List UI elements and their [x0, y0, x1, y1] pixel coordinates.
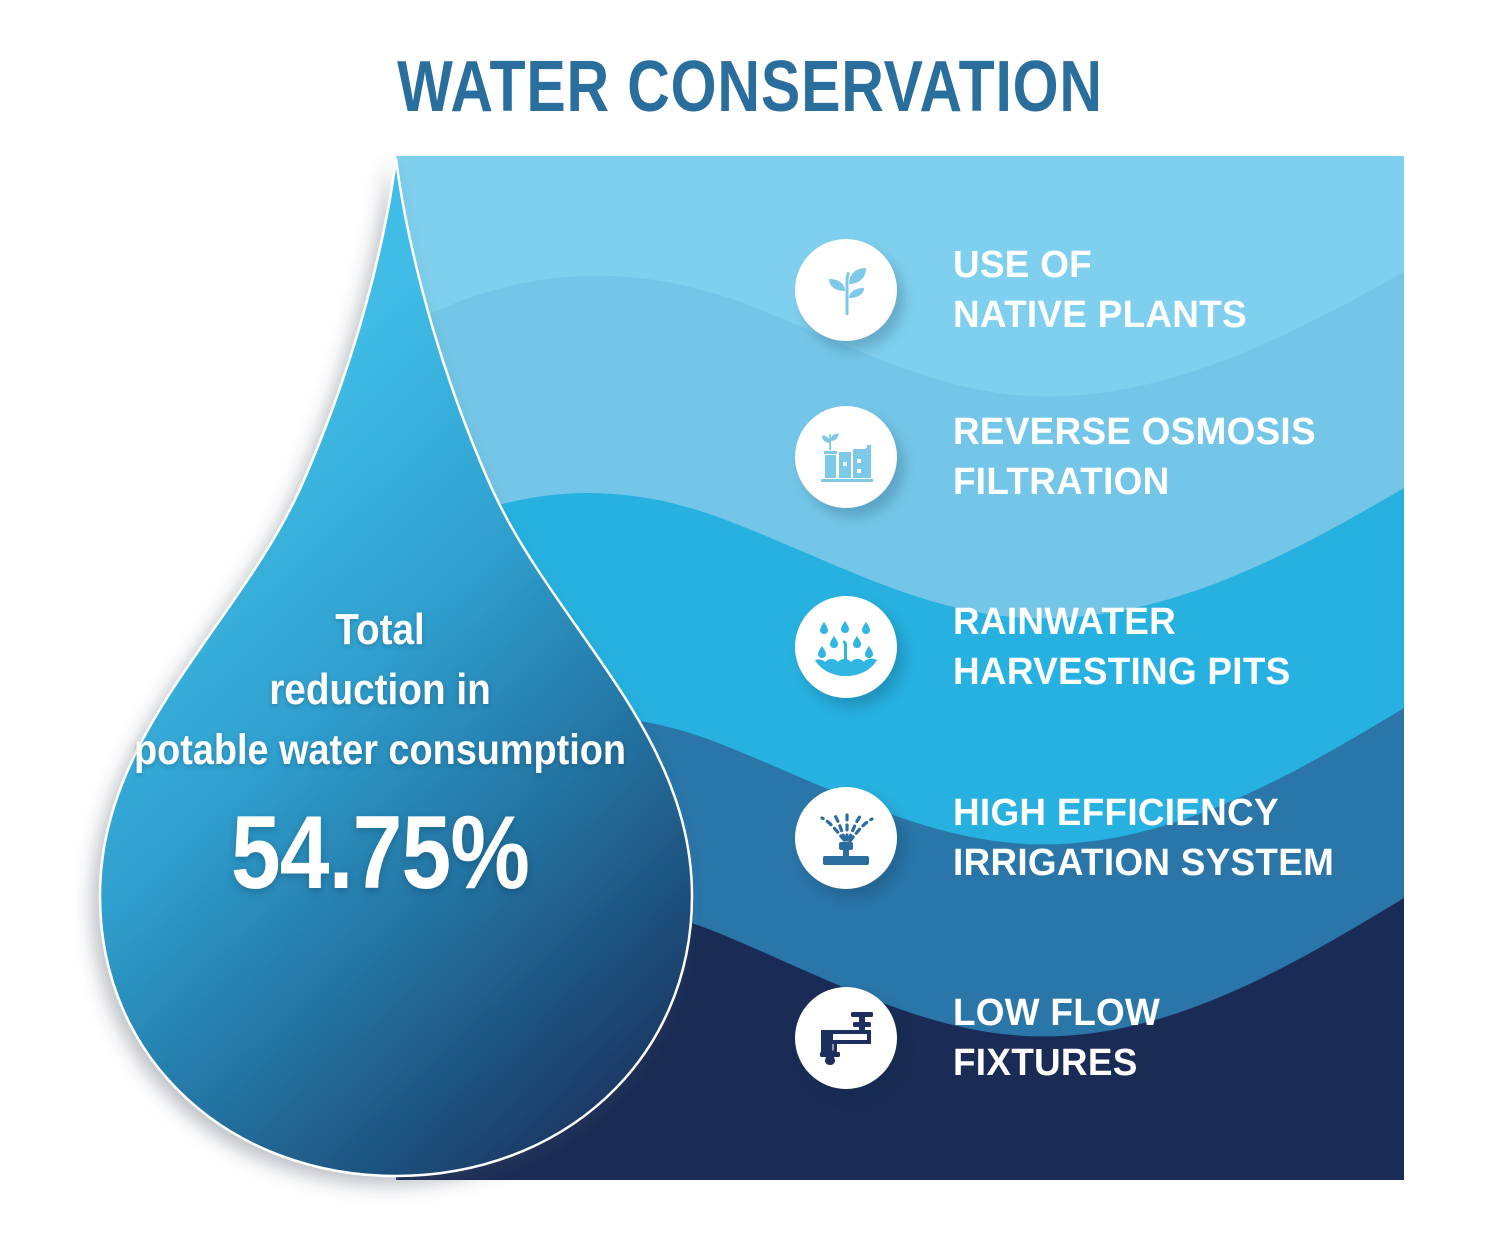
droplet-path	[100, 158, 692, 1176]
reverse-osmosis-plant-icon	[795, 406, 897, 508]
filtration-plant-glyph	[815, 426, 877, 488]
faucet-drip-icon	[795, 987, 897, 1089]
feature-low-flow-fixtures[interactable]: LOW FLOW FIXTURES	[795, 987, 1166, 1089]
feature-label: LOW FLOW FIXTURES	[953, 988, 1160, 1088]
faucet-glyph	[815, 1008, 877, 1068]
plant-sprout-icon	[795, 239, 897, 341]
water-droplet	[58, 150, 738, 1196]
droplet-shape	[58, 150, 738, 1196]
rain-umbrella-icon	[795, 596, 897, 698]
feature-reverse-osmosis[interactable]: REVERSE OSMOSIS FILTRATION	[795, 406, 1327, 508]
feature-label: USE OF NATIVE PLANTS	[953, 240, 1247, 340]
rain-umbrella-glyph	[814, 616, 878, 678]
feature-label: REVERSE OSMOSIS FILTRATION	[953, 407, 1316, 507]
feature-irrigation-system[interactable]: HIGH EFFICIENCY IRRIGATION SYSTEM	[795, 787, 1346, 889]
feature-rainwater-harvesting[interactable]: RAINWATER HARVESTING PITS	[795, 596, 1301, 698]
page-title: WATER CONSERVATION	[135, 46, 1365, 128]
infographic-canvas: WATER CONSERVATION	[0, 0, 1500, 1252]
feature-label: RAINWATER HARVESTING PITS	[953, 597, 1291, 697]
plant-sprout-glyph	[816, 260, 876, 320]
sprinkler-glyph	[814, 808, 878, 868]
feature-label: HIGH EFFICIENCY IRRIGATION SYSTEM	[953, 788, 1334, 888]
feature-native-plants[interactable]: USE OF NATIVE PLANTS	[795, 239, 1256, 341]
sprinkler-icon	[795, 787, 897, 889]
